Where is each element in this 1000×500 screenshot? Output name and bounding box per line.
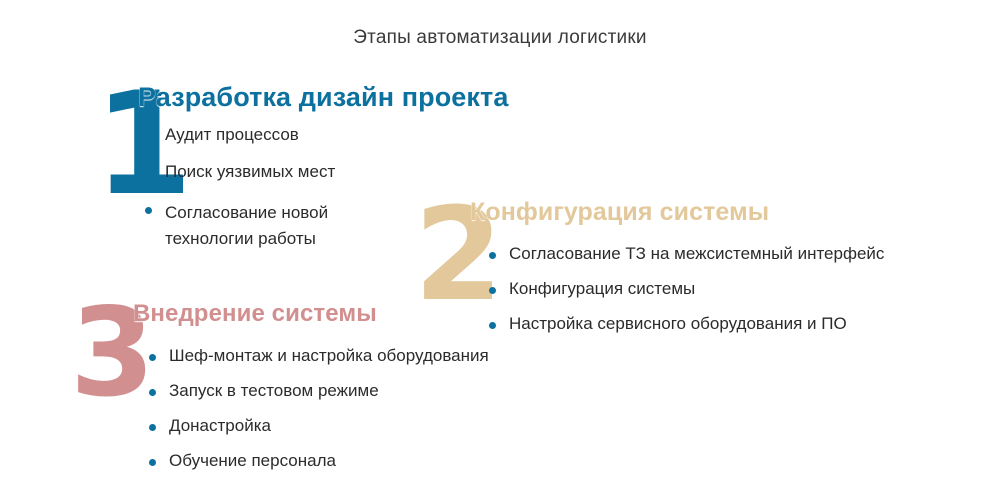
list-item: Согласование новой технологии работы [145, 200, 390, 253]
bullet-icon [149, 354, 156, 361]
list-item-text: Донастройка [169, 417, 271, 434]
list-item: Обучение персонала [149, 452, 489, 469]
list-item-text: Настройка сервисного оборудования и ПО [509, 315, 847, 332]
list-item: Запуск в тестовом режиме [149, 382, 489, 399]
list-item: Шеф-монтаж и настройка оборудования [149, 347, 489, 364]
list-item-text: Обучение персонала [169, 452, 336, 469]
list-item: Конфигурация системы [489, 280, 884, 297]
infographic-root: Этапы автоматизации логистики 1 Разработ… [0, 0, 1000, 500]
step-heading-2: Конфигурация системы [470, 200, 769, 225]
list-item: Донастройка [149, 417, 489, 434]
bullet-icon [489, 322, 496, 329]
bullet-icon [489, 252, 496, 259]
list-item-text: Согласование ТЗ на межсистемный интерфей… [509, 245, 884, 262]
list-item-text: Конфигурация системы [509, 280, 695, 297]
bullet-icon [489, 287, 496, 294]
list-item-text: Запуск в тестовом режиме [169, 382, 379, 399]
list-item: Настройка сервисного оборудования и ПО [489, 315, 884, 332]
list-item-text: Согласование новой технологии работы [165, 200, 390, 253]
bullet-icon [149, 459, 156, 466]
bullet-icon [149, 389, 156, 396]
list-item-text: Шеф-монтаж и настройка оборудования [169, 347, 489, 364]
step-list-3: Шеф-монтаж и настройка оборудования Запу… [149, 347, 489, 469]
bullet-icon [149, 424, 156, 431]
bullet-icon [145, 207, 152, 214]
list-item: Согласование ТЗ на межсистемный интерфей… [489, 245, 884, 262]
step-block-3: 3 Внедрение системы Шеф-монтаж и настрой… [0, 0, 640, 180]
step-list-2: Согласование ТЗ на межсистемный интерфей… [489, 245, 884, 332]
step-heading-3: Внедрение системы [133, 302, 377, 326]
